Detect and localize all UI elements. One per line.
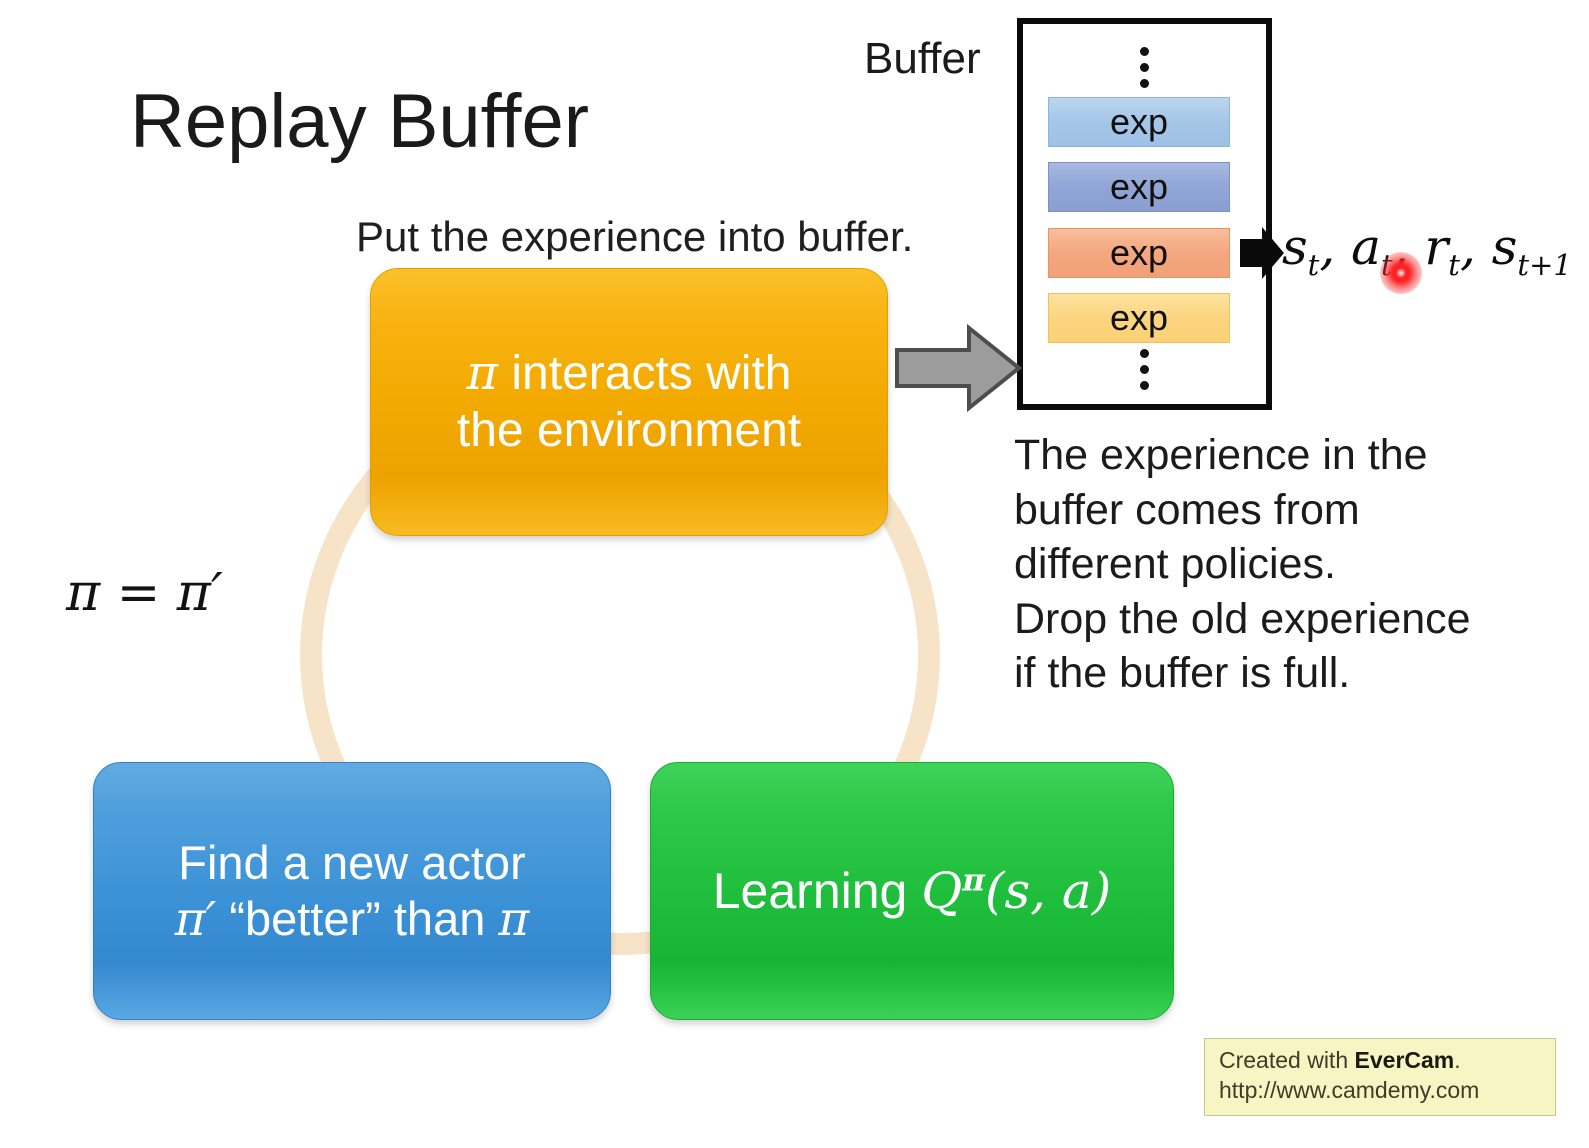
note-line-1: buffer comes from [1014, 483, 1554, 538]
pi-equals-label: π = π′ [66, 563, 223, 623]
note-line-4: if the buffer is full. [1014, 646, 1554, 701]
node-learning-q[interactable]: Learning Qπ(s, a) [650, 762, 1174, 1020]
buffer-label: Buffer [864, 34, 981, 84]
formula-s-t: st [1282, 218, 1319, 276]
black-arrow-icon [1240, 225, 1286, 281]
gray-block-arrow-icon [893, 322, 1023, 414]
pi-symbol-actor: π [467, 345, 499, 401]
buffer-ellipsis-top-icon [1023, 40, 1266, 95]
node-learning-q-label: Learning [713, 863, 922, 919]
evercam-watermark: Created with EverCam. http://www.camdemy… [1204, 1038, 1556, 1116]
buffer-container: exp exp exp exp [1017, 18, 1272, 410]
watermark-line-1: Created with EverCam. [1219, 1046, 1543, 1076]
buffer-item-0[interactable]: exp [1048, 97, 1230, 147]
note-line-3: Drop the old experience [1014, 592, 1554, 647]
slide-canvas: Replay Buffer Put the experience into bu… [0, 0, 1589, 1148]
formula-comma-3: , [1460, 218, 1492, 276]
node-find-line2: π′ “better” than π [175, 891, 530, 947]
page-title: Replay Buffer [130, 78, 589, 165]
node-actor-interacts-text: π interacts with the environment [439, 345, 819, 459]
note-line-0: The experience in the [1014, 428, 1554, 483]
buffer-explanation-note: The experience in the buffer comes from … [1014, 428, 1554, 701]
buffer-item-2[interactable]: exp [1048, 228, 1230, 278]
watermark-suffix: . [1454, 1047, 1460, 1073]
pi-equals-text: π = π′ [66, 563, 223, 623]
node-actor-line2: the environment [457, 403, 801, 460]
formula-r-t: rt [1424, 218, 1460, 276]
watermark-brand: EverCam [1355, 1047, 1455, 1073]
node-actor-line1-rest: interacts with [498, 347, 791, 400]
node-find-new-actor[interactable]: Find a new actor π′ “better” than π [93, 762, 611, 1020]
q-args: (s, a) [985, 862, 1111, 920]
formula-comma-1: , [1319, 218, 1351, 276]
formula-s-t-plus-1: st+1 [1492, 218, 1572, 276]
note-line-2: different policies. [1014, 537, 1554, 592]
formula-comma-2: , [1393, 218, 1425, 276]
watermark-prefix: Created with [1219, 1047, 1355, 1073]
q-superscript-pi: π [962, 862, 985, 898]
put-experience-caption: Put the experience into buffer. [356, 213, 913, 261]
buffer-item-3[interactable]: exp [1048, 293, 1230, 343]
q-symbol: Q [921, 862, 962, 920]
node-find-new-actor-text: Find a new actor π′ “better” than π [157, 835, 548, 947]
buffer-ellipsis-bottom-icon [1023, 342, 1266, 397]
node-find-line1: Find a new actor [175, 835, 530, 890]
node-learning-q-text: Learning Qπ(s, a) [695, 862, 1129, 921]
watermark-line-2[interactable]: http://www.camdemy.com [1219, 1076, 1543, 1106]
node-actor-interacts[interactable]: π interacts with the environment [370, 268, 888, 536]
formula-a-t: at [1351, 218, 1392, 276]
experience-tuple-formula: st, at, rt, st+1 [1282, 218, 1572, 282]
buffer-item-1[interactable]: exp [1048, 162, 1230, 212]
